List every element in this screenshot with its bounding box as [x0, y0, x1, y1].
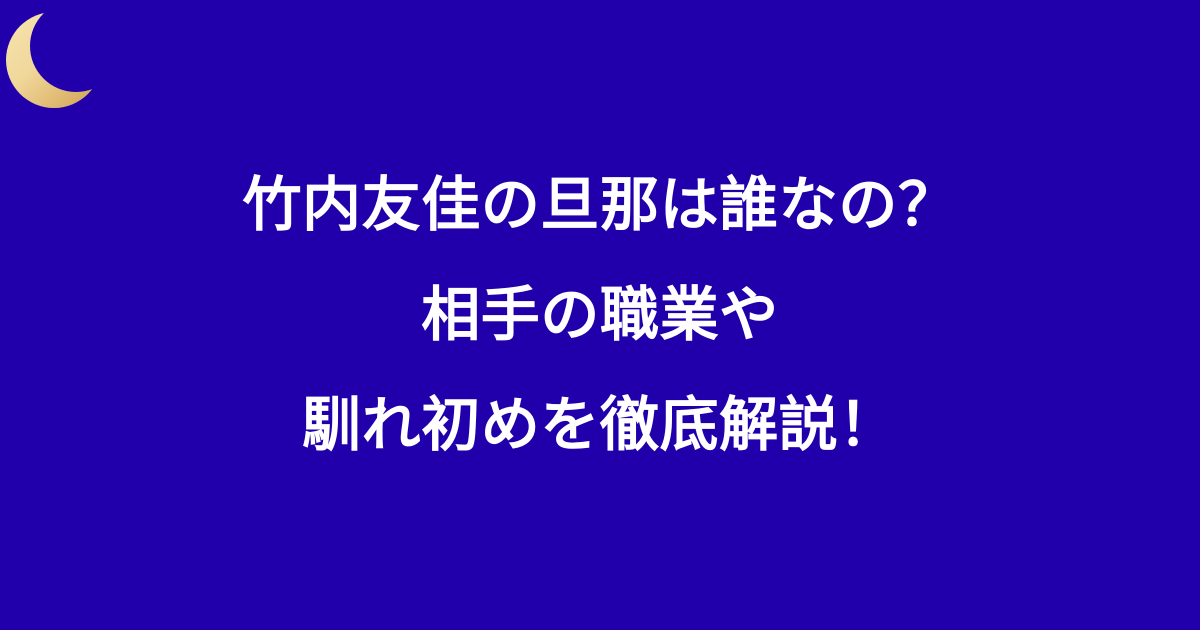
title-line-1: 竹内友佳の旦那は誰なの？ [104, 150, 1096, 260]
title-line-2: 相手の職業や [104, 260, 1096, 370]
title-line-3: 馴れ初めを徹底解説！ [104, 370, 1096, 480]
eyecatch-card: 竹内友佳の旦那は誰なの？ 相手の職業や 馴れ初めを徹底解説！ [0, 0, 1200, 630]
crescent-moon-icon [0, 6, 118, 124]
page-title: 竹内友佳の旦那は誰なの？ 相手の職業や 馴れ初めを徹底解説！ [80, 150, 1120, 480]
